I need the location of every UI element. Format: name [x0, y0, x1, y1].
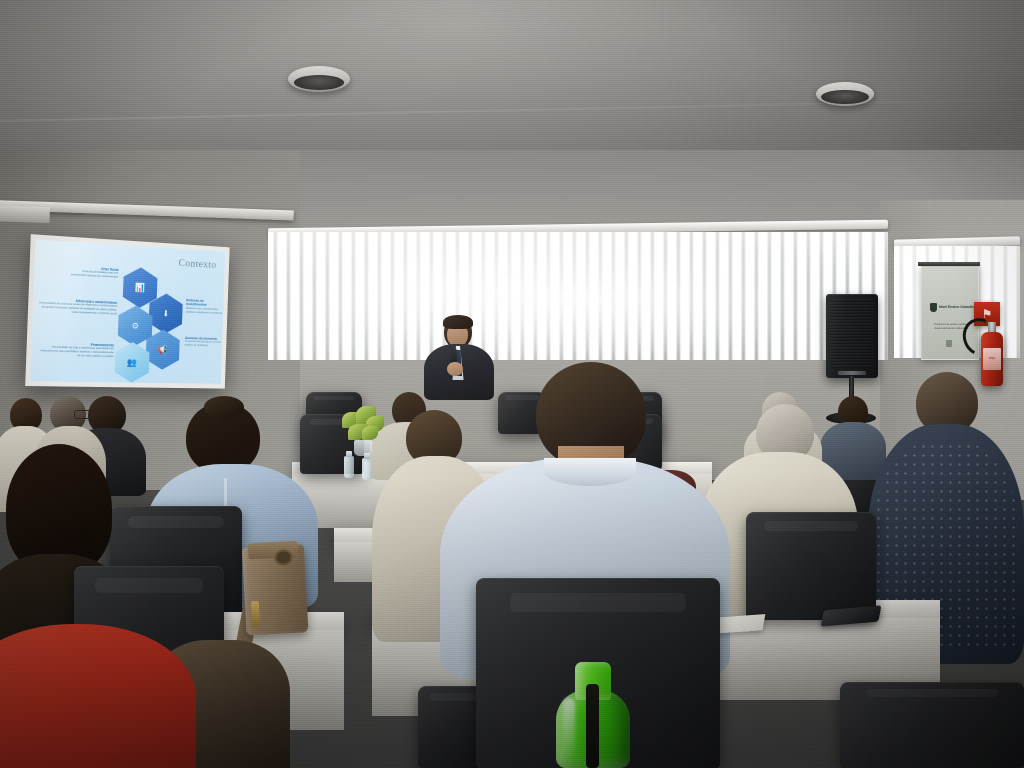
banner-logo: Nivel Ensino Guarulhos	[930, 303, 977, 312]
slide-block-financiamento: Financiamento Necessidade de criar e ape…	[39, 341, 114, 359]
slide-block-crise-fiscal: Crise fiscal Crise fiscal brasileira que…	[51, 264, 118, 280]
bottle-highlight	[563, 698, 575, 756]
speaker-badge	[838, 371, 866, 375]
banner-rod	[918, 262, 980, 266]
slide-block-body: Crise fiscal brasileira que tem pression…	[66, 270, 118, 280]
audience-member-red-shirt	[0, 612, 196, 768]
speaker-grille	[830, 299, 874, 368]
laptop-on-table[interactable]	[386, 586, 453, 616]
hex-group: 👥	[114, 342, 149, 383]
screen-roller-case	[0, 205, 50, 223]
collar	[544, 458, 636, 486]
chair[interactable]	[746, 512, 876, 620]
ceiling-light-icon	[288, 66, 350, 92]
slide-block-reducao: Reducao de investimentos Reducao com inv…	[186, 298, 224, 315]
projection-screen: Contexto 📊 ⬇ ⚙ 📢 👥	[25, 234, 229, 388]
water-bottle	[344, 450, 354, 478]
bar-chart-icon: 📊	[135, 283, 145, 292]
slide-block-body: Necessidade de criar e aperfeicoar alter…	[39, 346, 114, 359]
ceiling-light-icon	[816, 82, 874, 106]
group-icon: 👥	[127, 358, 137, 367]
slide-block-body: Necessidade de promover acoes de eficien…	[38, 302, 117, 317]
extinguisher-label: PQS	[983, 348, 1001, 370]
logo-mark-icon	[930, 303, 937, 312]
down-arrow-icon: ⬇	[162, 309, 169, 318]
water-bottle	[362, 452, 372, 480]
bottle-strap	[586, 684, 599, 768]
torso	[0, 624, 196, 768]
gears-icon: ⚙	[132, 321, 140, 330]
glasses-icon	[74, 410, 94, 419]
pa-speaker	[826, 294, 878, 378]
megaphone-icon: 📢	[158, 345, 168, 354]
slide-block-body: Crescente demanda por servico publico de…	[185, 340, 223, 348]
slide-title: Contexto	[178, 257, 216, 271]
ponytail	[204, 396, 244, 418]
extinguisher-label-text: PQS	[983, 348, 1001, 370]
handbag[interactable]	[233, 532, 316, 640]
presentation-slide: Contexto 📊 ⬇ ⚙ 📢 👥	[30, 239, 225, 383]
banner-logo-text: Nivel Ensino Guarulhos	[939, 305, 977, 309]
presenter-hair	[443, 315, 473, 329]
conference-room-photo: Contexto 📊 ⬇ ⚙ 📢 👥	[0, 0, 1024, 768]
banner-seal-icon	[946, 340, 952, 347]
slide-block-body: Reducao com investimentos publicos, esta…	[186, 307, 224, 316]
vertical-blinds	[268, 232, 888, 360]
slide-block-eficiencia: Eficiencia e modernizacao Necessidade de…	[38, 297, 117, 316]
chair[interactable]	[840, 682, 1024, 768]
green-water-bottle[interactable]	[556, 662, 630, 768]
handbag-tassel	[251, 601, 260, 627]
slide-block-demanda: Aumento da demanda Crescente demanda por…	[185, 336, 223, 349]
